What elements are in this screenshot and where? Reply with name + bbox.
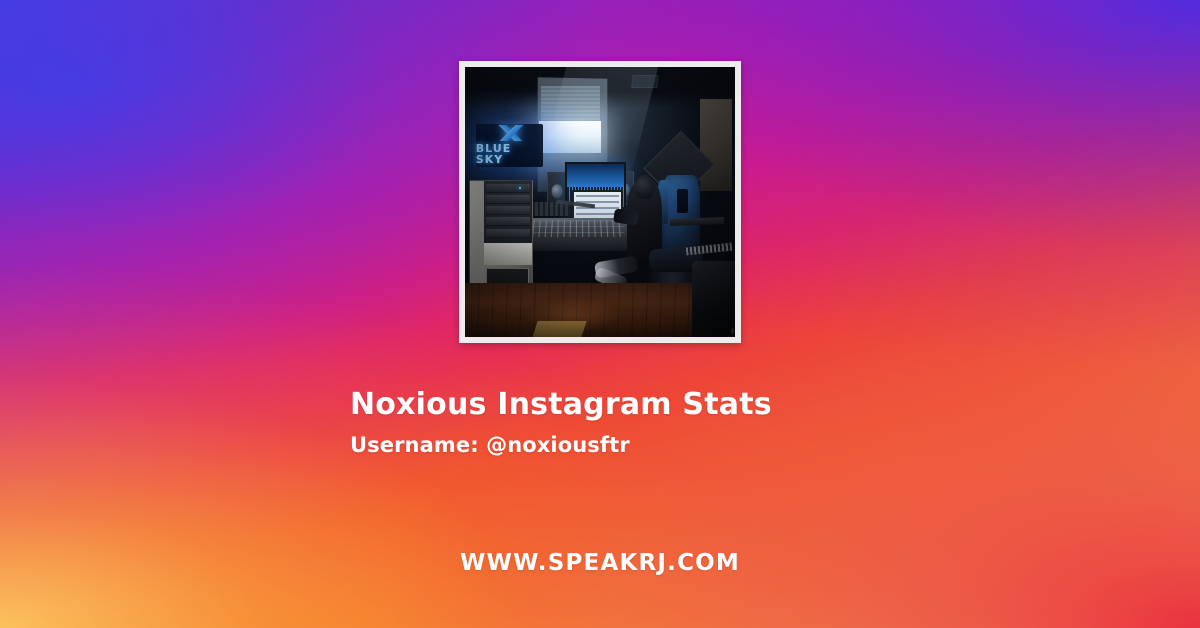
daw-track-row xyxy=(576,195,619,197)
rack-unit xyxy=(486,195,531,204)
rack-unit xyxy=(486,184,531,193)
gaming-chair-backrest xyxy=(662,175,700,256)
studio-scene-illustration: BLUE SKY xyxy=(465,67,735,337)
foreground-road-case xyxy=(692,261,735,337)
window-light-glow xyxy=(539,121,601,153)
neon-sign-label: BLUE SKY xyxy=(476,143,544,165)
wall-panel-right xyxy=(700,99,732,191)
rack-faceplate xyxy=(484,243,532,265)
rack-unit xyxy=(486,206,531,215)
daw-track-row xyxy=(576,213,619,215)
chair-cutout xyxy=(677,189,688,213)
footer-website-url: WWW.SPEAKRJ.COM xyxy=(0,550,1200,576)
mountain-icon xyxy=(489,125,531,141)
case-wheel xyxy=(731,328,734,335)
blue-sky-neon-sign: BLUE SKY xyxy=(476,124,544,167)
window-blind xyxy=(541,86,600,121)
username-label: Username: @noxiousftr xyxy=(350,433,910,458)
rack-gear-stack xyxy=(484,181,532,243)
page-title: Noxious Instagram Stats xyxy=(350,388,910,423)
console-faders xyxy=(532,221,626,238)
card-text-block: Noxious Instagram Stats Username: @noxio… xyxy=(350,388,910,458)
ceiling-vent xyxy=(632,75,660,88)
person-head xyxy=(635,175,654,199)
profile-photo: BLUE SKY xyxy=(465,67,735,337)
rack-unit xyxy=(486,229,531,238)
rack-led-indicator xyxy=(519,187,521,189)
profile-photo-frame: BLUE SKY xyxy=(459,61,741,343)
floor-light-pool xyxy=(524,299,621,331)
social-share-card: BLUE SKY xyxy=(0,0,1200,628)
rack-unit xyxy=(486,217,531,226)
studio-desk xyxy=(524,237,632,251)
daw-track-row xyxy=(576,207,619,209)
speaker-cone xyxy=(552,184,563,198)
